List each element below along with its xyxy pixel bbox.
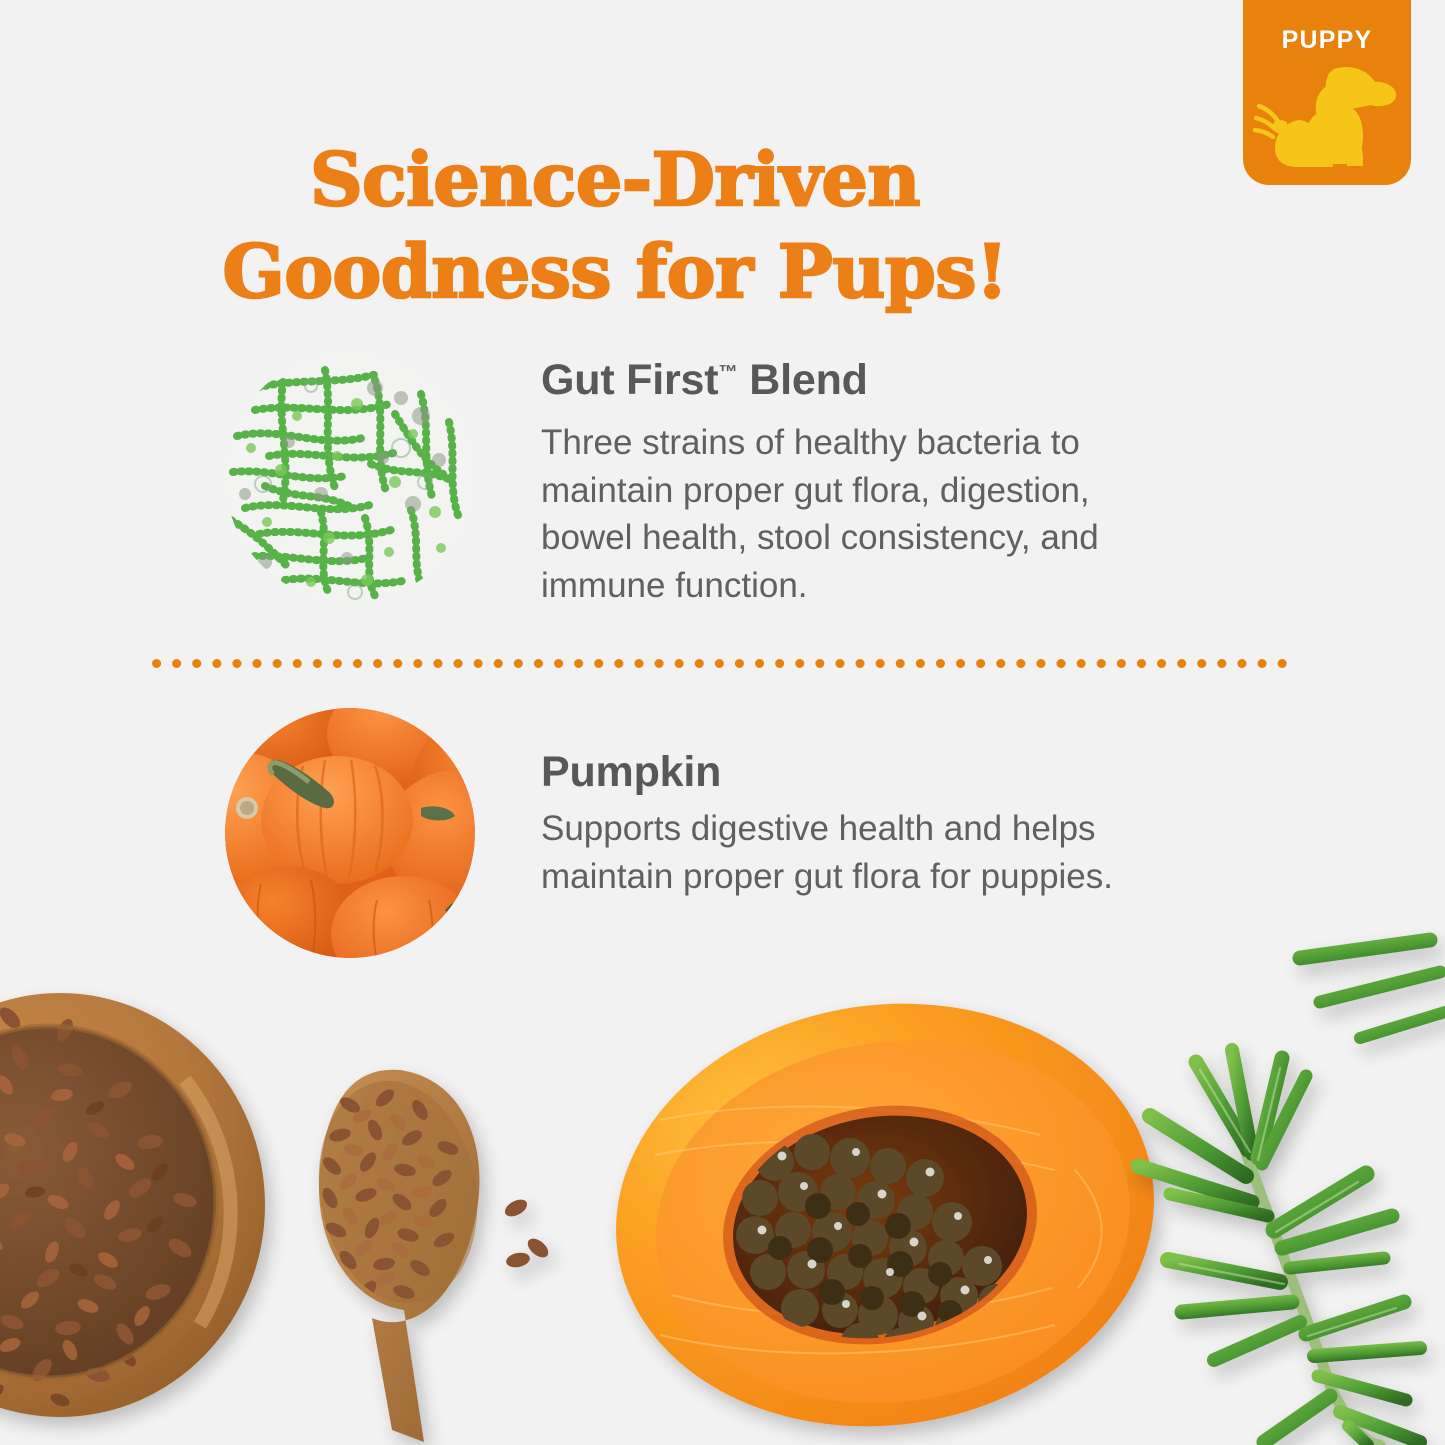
poster-canvas: PUPPY xyxy=(0,0,1445,1445)
dotted-divider xyxy=(152,655,1292,664)
tail-wag-lines xyxy=(1255,106,1277,137)
pumpkins-thumbnail xyxy=(225,708,475,958)
rosemary-sprig-photo xyxy=(1138,940,1445,1445)
flaxseed-spoon-photo xyxy=(302,1068,552,1442)
feature-body: Supports digestive health and helps main… xyxy=(541,805,1113,900)
bacteria-microscopy-thumbnail xyxy=(225,352,475,602)
puppy-badge: PUPPY xyxy=(1243,0,1411,185)
feature-pumpkin: Pumpkin Supports digestive health and he… xyxy=(225,708,1113,958)
feature-title: Gut First™ Blend xyxy=(541,358,1099,403)
trademark-symbol: ™ xyxy=(718,362,737,384)
feature-title-main: Gut First xyxy=(541,356,718,404)
feature-title: Pumpkin xyxy=(541,750,1113,795)
flaxseed-bowl-photo xyxy=(0,993,265,1417)
feature-text-block: Pumpkin Supports digestive health and he… xyxy=(541,708,1113,900)
feature-body: Three strains of healthy bacteria to mai… xyxy=(541,419,1099,609)
halved-papaya-photo xyxy=(588,969,1181,1445)
loose-seeds xyxy=(502,1196,552,1269)
bottom-imagery xyxy=(0,930,1445,1445)
page-title: Science-Driven Goodness for Pups! xyxy=(0,135,1230,319)
sitting-puppy-icon xyxy=(1251,62,1403,172)
feature-title-suffix: Blend xyxy=(738,356,868,404)
feature-text-block: Gut First™ Blend Three strains of health… xyxy=(541,352,1099,610)
feature-gut-first-blend: Gut First™ Blend Three strains of health… xyxy=(225,352,1099,610)
puppy-badge-label: PUPPY xyxy=(1243,26,1411,55)
